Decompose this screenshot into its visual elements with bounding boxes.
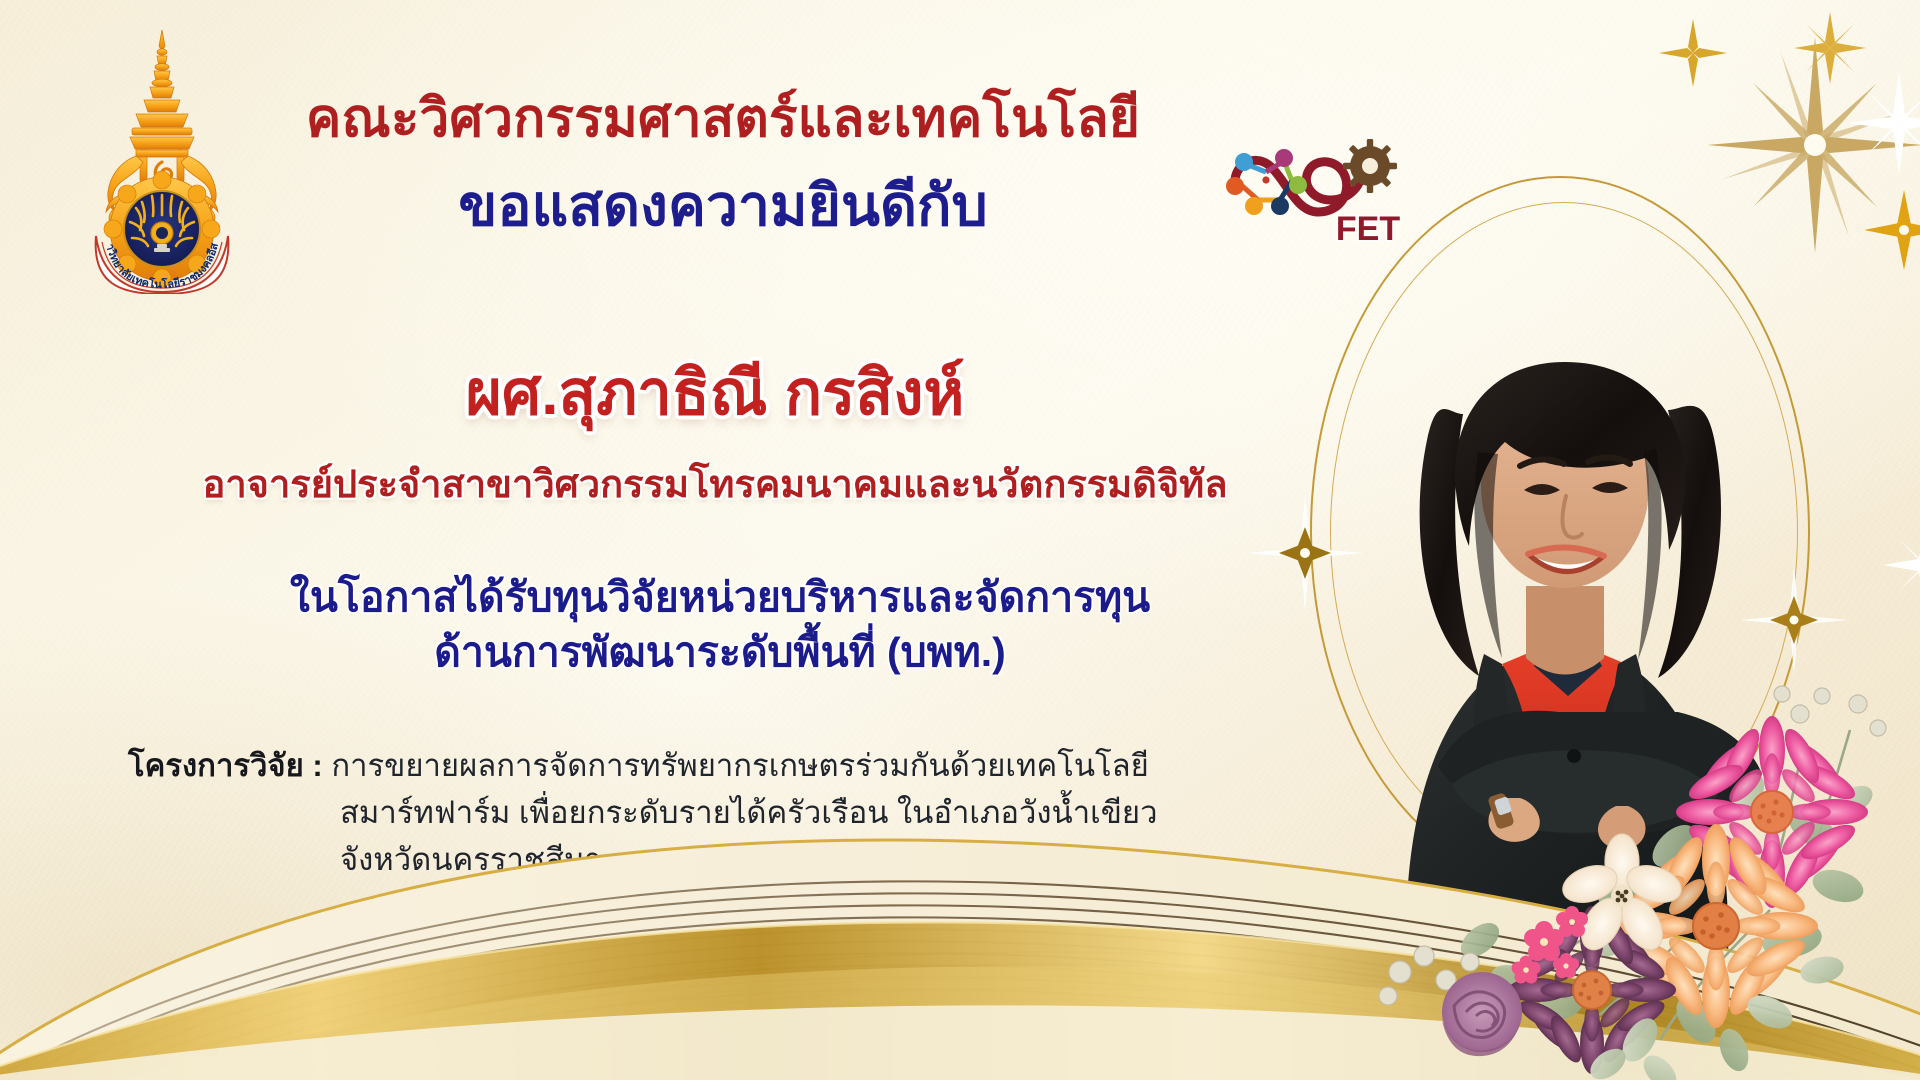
project-first-line: โครงการวิจัย : การขยายผลการจัดการทรัพยาก… — [128, 742, 1303, 789]
honoree-photo — [1288, 166, 1848, 966]
banner-canvas: มหาวิทยาลัยเทคโนโลยีราชมงคลอีสาน คณะวิศว… — [0, 0, 1920, 1080]
sparkle-small-gold-a — [1656, 16, 1730, 90]
sparkle-gold-diamond-right — [1860, 186, 1920, 274]
project-block: โครงการวิจัย : การขยายผลการจัดการทรัพยาก… — [128, 742, 1303, 883]
project-line-1: การขยายผลการจัดการทรัพยากรเกษตรร่วมกันด้… — [331, 748, 1149, 783]
honoree-name: ผศ.สุภาธิณี กรสิงห์ — [120, 360, 1310, 428]
faculty-heading: คณะวิศวกรรมศาสตร์และเทคโนโลยี — [228, 92, 1218, 145]
honoree-role: อาจารย์ประจำสาขาวิศวกรรมโทรคมนาคมและนวัต… — [100, 465, 1330, 507]
project-line-2: สมาร์ทฟาร์ม เพื่อยกระดับรายได้ครัวเรือน … — [128, 789, 1303, 836]
project-line-3: จังหวัดนครราชสีมา — [128, 836, 1303, 883]
congratulations-heading: ขอแสดงความยินดีกับ — [228, 178, 1218, 235]
occasion-line-2: ด้านการพัฒนาระดับพื้นที่ (บพท.) — [130, 625, 1310, 680]
sparkle-white-lower-right — [1880, 520, 1920, 610]
occasion-text: ในโอกาสได้รับทุนวิจัยหน่วยบริหารและจัดกา… — [130, 570, 1310, 681]
sparkle-small-gold-b — [1792, 10, 1868, 86]
flower-mauve-rose — [1442, 972, 1522, 1056]
sparkle-white-right — [1844, 68, 1920, 178]
portrait-frame — [1288, 166, 1848, 966]
rmuti-emblem: มหาวิทยาลัยเทคโนโลยีราชมงคลอีสาน — [62, 22, 262, 294]
project-label: โครงการวิจัย : — [128, 748, 323, 783]
occasion-line-1: ในโอกาสได้รับทุนวิจัยหน่วยบริหารและจัดกา… — [130, 570, 1310, 625]
